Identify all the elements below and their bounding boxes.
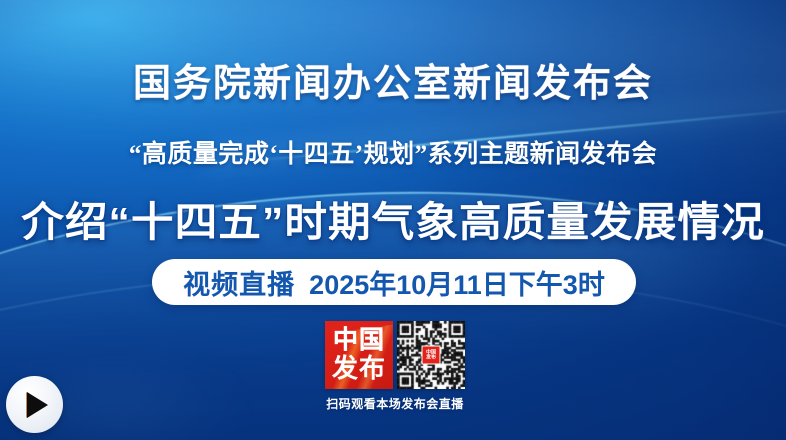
topic-headline: 介绍“十四五”时期气象高质量发展情况 <box>0 188 786 248</box>
qr-center-logo: 中国 发布 <box>422 346 441 365</box>
qr-caption: 扫码观看本场发布会直播 <box>325 395 465 412</box>
video-poster-frame: 国务院新闻办公室新闻发布会 “高质量完成‘十四五’规划”系列主题新闻发布会 介绍… <box>0 0 786 440</box>
poster-content: 国务院新闻办公室新闻发布会 “高质量完成‘十四五’规划”系列主题新闻发布会 介绍… <box>0 0 786 440</box>
qr-center-line-2: 发布 <box>426 355 436 360</box>
qr-code[interactable]: 中国 发布 <box>397 321 465 389</box>
series-subtitle: “高质量完成‘十四五’规划”系列主题新闻发布会 <box>0 134 786 170</box>
broadcast-label: 视频直播 <box>183 263 295 302</box>
qr-logo-cluster: 中国 发布 中国 发布 扫码观看本场发布会直播 <box>325 321 465 412</box>
logo-line-2: 发布 <box>332 356 386 382</box>
qr-logo-row: 中国 发布 中国 发布 <box>325 321 465 389</box>
broadcast-datetime: 2025年10月11日下午3时 <box>309 263 605 302</box>
play-button[interactable] <box>6 376 63 433</box>
china-release-logo: 中国 发布 <box>325 321 393 389</box>
play-triangle-icon <box>27 392 48 418</box>
logo-line-1: 中国 <box>333 328 385 353</box>
page-title: 国务院新闻办公室新闻发布会 <box>0 52 786 107</box>
broadcast-time-badge: 视频直播 2025年10月11日下午3时 <box>152 259 636 305</box>
